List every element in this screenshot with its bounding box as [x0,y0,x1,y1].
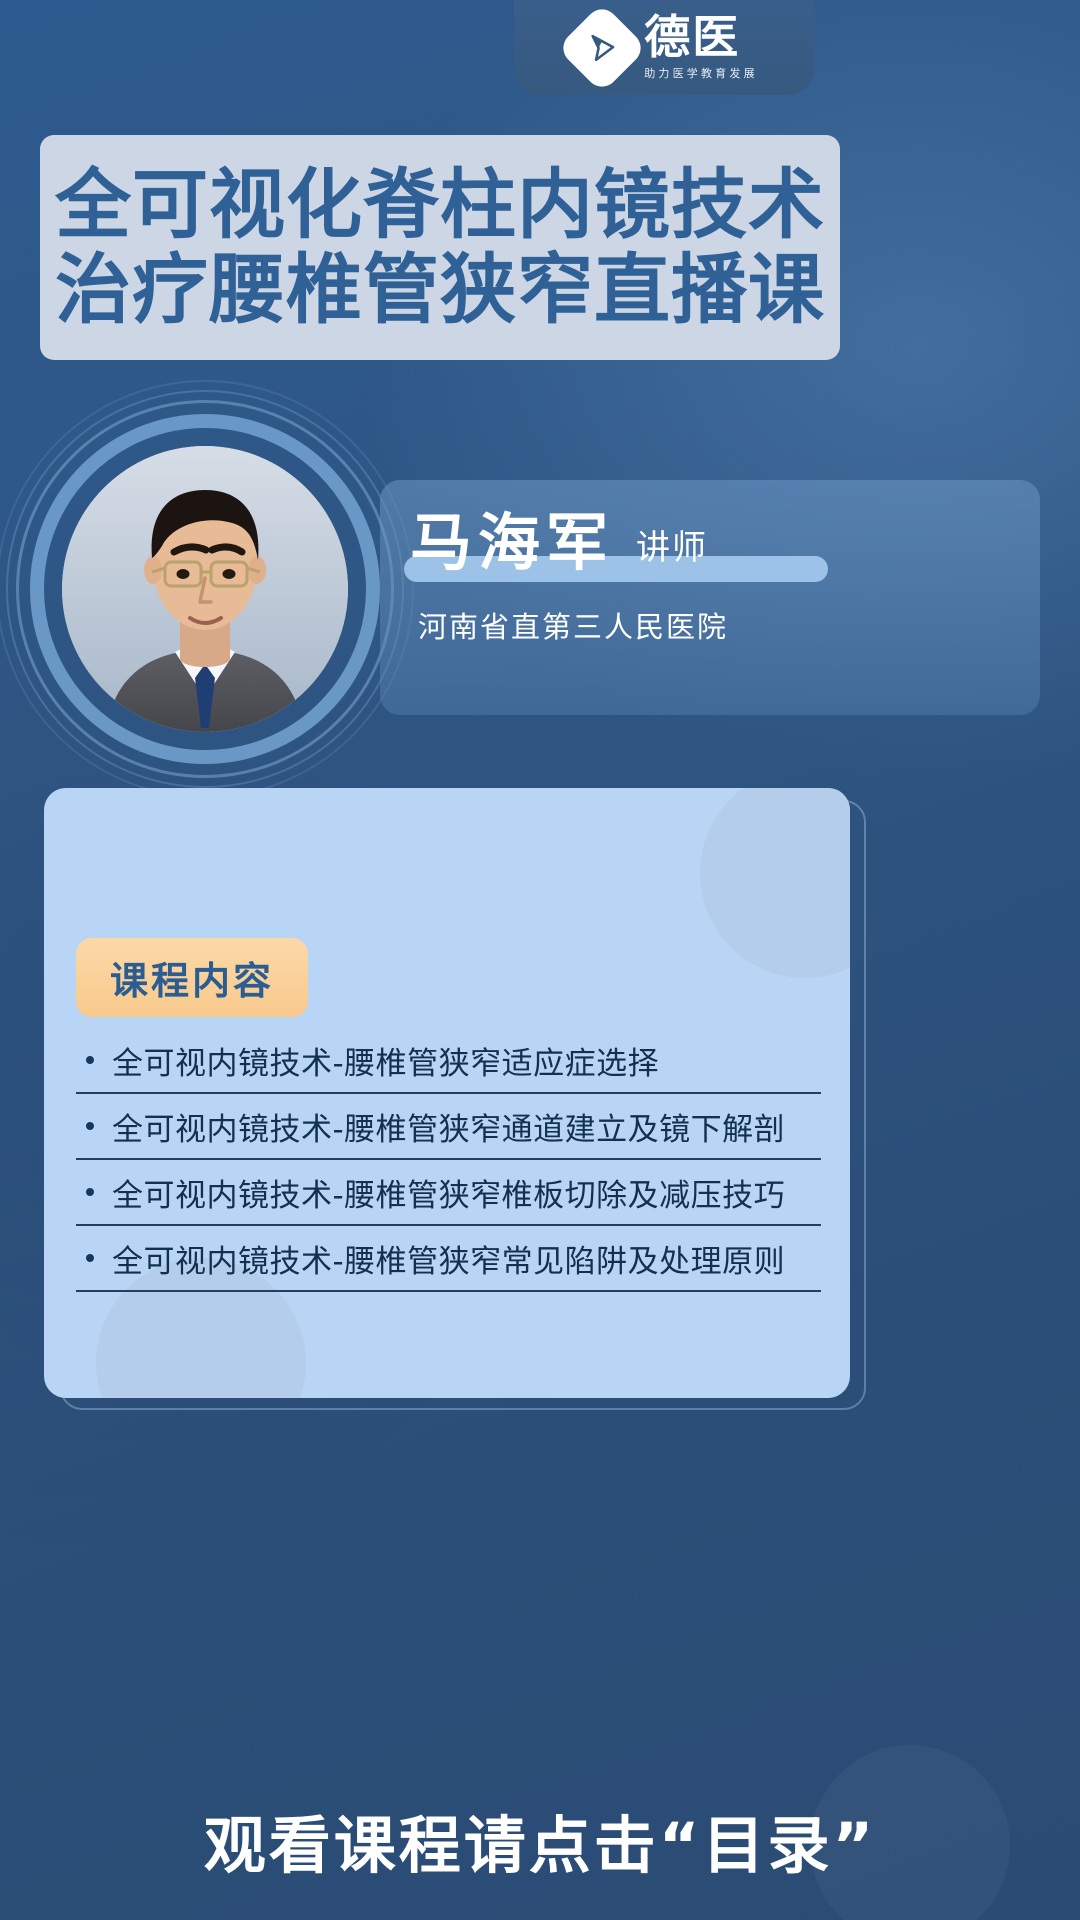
title-line-1: 全可视化脊柱内镜技术 [55,164,825,246]
decor-blob-1 [700,788,850,978]
list-item[interactable]: 全可视内镜技术-腰椎管狭窄常见陷阱及处理原则 [76,1226,821,1292]
speaker-name: 马海军 [410,512,614,574]
poster-root: 德医 助力医学教育发展 全可视化脊柱内镜技术 治疗腰椎管狭窄直播课 [0,0,1080,1920]
list-item[interactable]: 全可视内镜技术-腰椎管狭窄通道建立及镜下解剖 [76,1094,821,1160]
footer-cta: 观看课程请点击“目录” [0,1795,1080,1885]
speaker-portrait-icon [62,446,348,732]
list-item[interactable]: 全可视内镜技术-腰椎管狭窄适应症选择 [76,1028,821,1094]
title-line-2: 治疗腰椎管狭窄直播课 [55,249,825,331]
brand-logo: 德医 助力医学教育发展 [570,14,758,81]
section-badge-course-content: 课程内容 [76,938,308,1017]
bullet-icon [86,1188,94,1196]
speaker-organization: 河南省直第三人民医院 [418,604,728,646]
bullet-icon [86,1254,94,1262]
bullet-icon [86,1122,94,1130]
list-item-label: 全可视内镜技术-腰椎管狭窄通道建立及镜下解剖 [112,1104,785,1149]
avatar [62,446,348,732]
bullet-icon [86,1056,94,1064]
list-item[interactable]: 全可视内镜技术-腰椎管狭窄椎板切除及减压技巧 [76,1160,821,1226]
brand-logo-panel: 德医 助力医学教育发展 [514,0,814,95]
course-list: 全可视内镜技术-腰椎管狭窄适应症选择 全可视内镜技术-腰椎管狭窄通道建立及镜下解… [76,1028,821,1292]
speaker-name-row: 马海军 讲师 [410,512,708,574]
list-item-label: 全可视内镜技术-腰椎管狭窄椎板切除及减压技巧 [112,1170,785,1215]
list-item-label: 全可视内镜技术-腰椎管狭窄适应症选择 [112,1038,659,1083]
page-title: 全可视化脊柱内镜技术 治疗腰椎管狭窄直播课 [40,135,840,360]
play-glyph-icon [585,31,619,65]
section-badge-label: 课程内容 [110,959,274,1003]
brand-name: 德医 [644,14,740,60]
play-diamond-icon [570,16,634,80]
speaker-role: 讲师 [636,520,708,574]
brand-tagline: 助力医学教育发展 [644,65,758,81]
list-item-label: 全可视内镜技术-腰椎管狭窄常见陷阱及处理原则 [112,1236,785,1281]
